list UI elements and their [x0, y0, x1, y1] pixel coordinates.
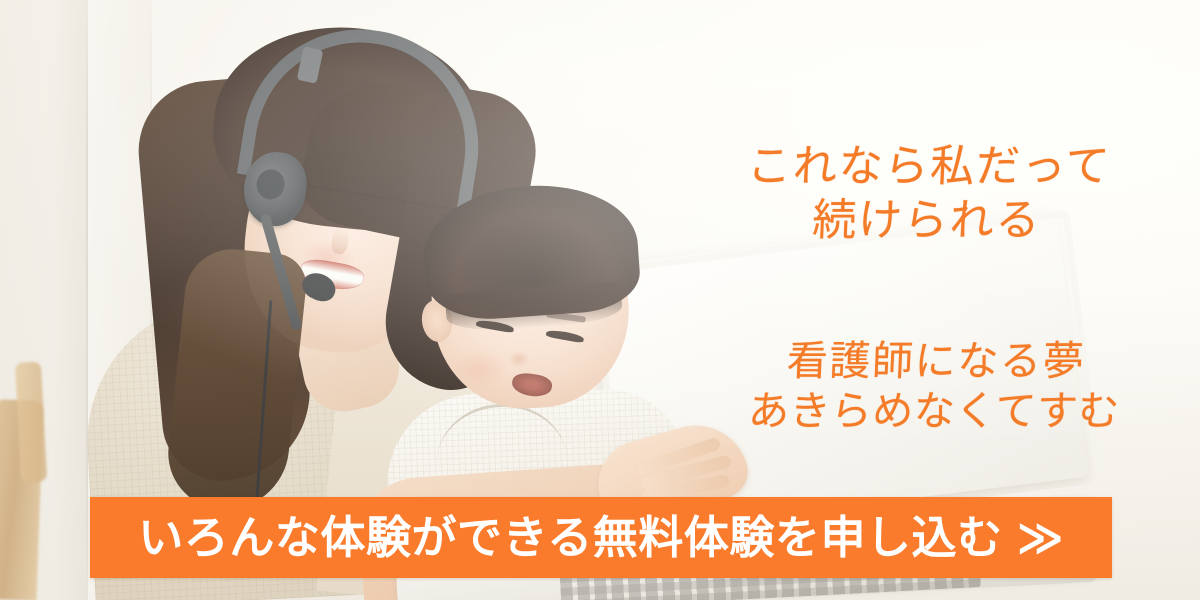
headline-copy-top: これなら私だって 続けられる: [734, 140, 1123, 247]
cta-label: いろんな体験ができる無料体験を申し込む: [138, 515, 1002, 560]
cta-button[interactable]: いろんな体験ができる無料体験を申し込む ≫: [90, 497, 1112, 578]
promo-banner: これなら私だって 続けられる 看護師になる夢 あきらめなくてすむ いろんな体験が…: [0, 0, 1200, 600]
baby-nose: [508, 350, 530, 368]
headline-copy-bottom: 看護師になる夢 あきらめなくてすむ: [742, 336, 1128, 436]
wall-seam: [86, 0, 88, 600]
baby-cheek: [452, 348, 508, 388]
chevron-right-double-icon: ≫: [1017, 515, 1064, 560]
headline-top-line1: これなら私だって: [746, 141, 1112, 192]
headline-bottom-line1: 看護師になる夢: [786, 337, 1087, 385]
headline-top-line2: 続けられる: [734, 194, 1120, 248]
headline-bottom-line2: あきらめなくてすむ: [742, 386, 1126, 436]
